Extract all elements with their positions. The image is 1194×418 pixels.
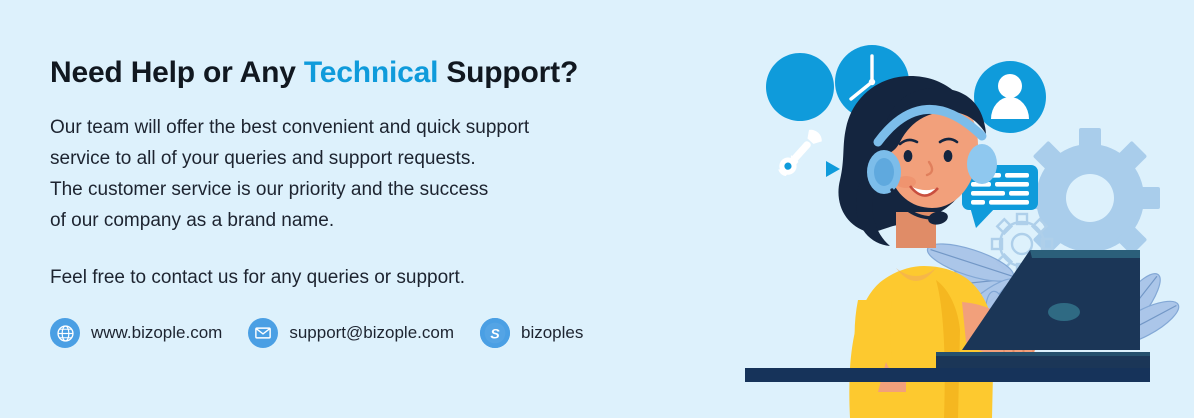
- eye-left: [904, 150, 913, 162]
- headset-earcup-right: [967, 144, 997, 184]
- contact-skype-label: bizoples: [521, 323, 583, 343]
- body-line-2: service to all of your queries and suppo…: [50, 143, 740, 174]
- body-line-4: of our company as a brand name.: [50, 205, 740, 236]
- laptop-logo: [1048, 303, 1080, 321]
- desk-surface: [745, 368, 1150, 382]
- cta-paragraph: Feel free to contact us for any queries …: [50, 262, 740, 293]
- globe-icon: [50, 318, 80, 348]
- support-illustration: [700, 0, 1194, 418]
- contact-website-label: www.bizople.com: [91, 323, 222, 343]
- headline-accent-word: Technical: [304, 56, 438, 89]
- contact-email-label: support@bizople.com: [289, 323, 454, 343]
- body-line-1: Our team will offer the best convenient …: [50, 112, 740, 143]
- body-paragraph: Our team will offer the best convenient …: [50, 112, 740, 236]
- person-icon: [974, 61, 1046, 133]
- contact-skype[interactable]: S bizoples: [480, 318, 583, 348]
- text-column: Need Help or Any Technical Support? Our …: [50, 56, 740, 293]
- body-line-3: The customer service is our priority and…: [50, 174, 740, 205]
- contact-row: www.bizople.com support@bizople.com S bi…: [50, 318, 583, 348]
- page-title: Need Help or Any Technical Support?: [50, 56, 740, 90]
- contact-website[interactable]: www.bizople.com: [50, 318, 222, 348]
- skype-icon: S: [480, 318, 510, 348]
- support-banner: Need Help or Any Technical Support? Our …: [0, 0, 1194, 418]
- envelope-icon: [248, 318, 278, 348]
- eye-right: [944, 150, 953, 162]
- headline-part-after: Support?: [438, 56, 578, 89]
- headline-part-before: Need Help or Any: [50, 56, 304, 89]
- contact-email[interactable]: support@bizople.com: [248, 318, 454, 348]
- svg-text:S: S: [490, 325, 500, 341]
